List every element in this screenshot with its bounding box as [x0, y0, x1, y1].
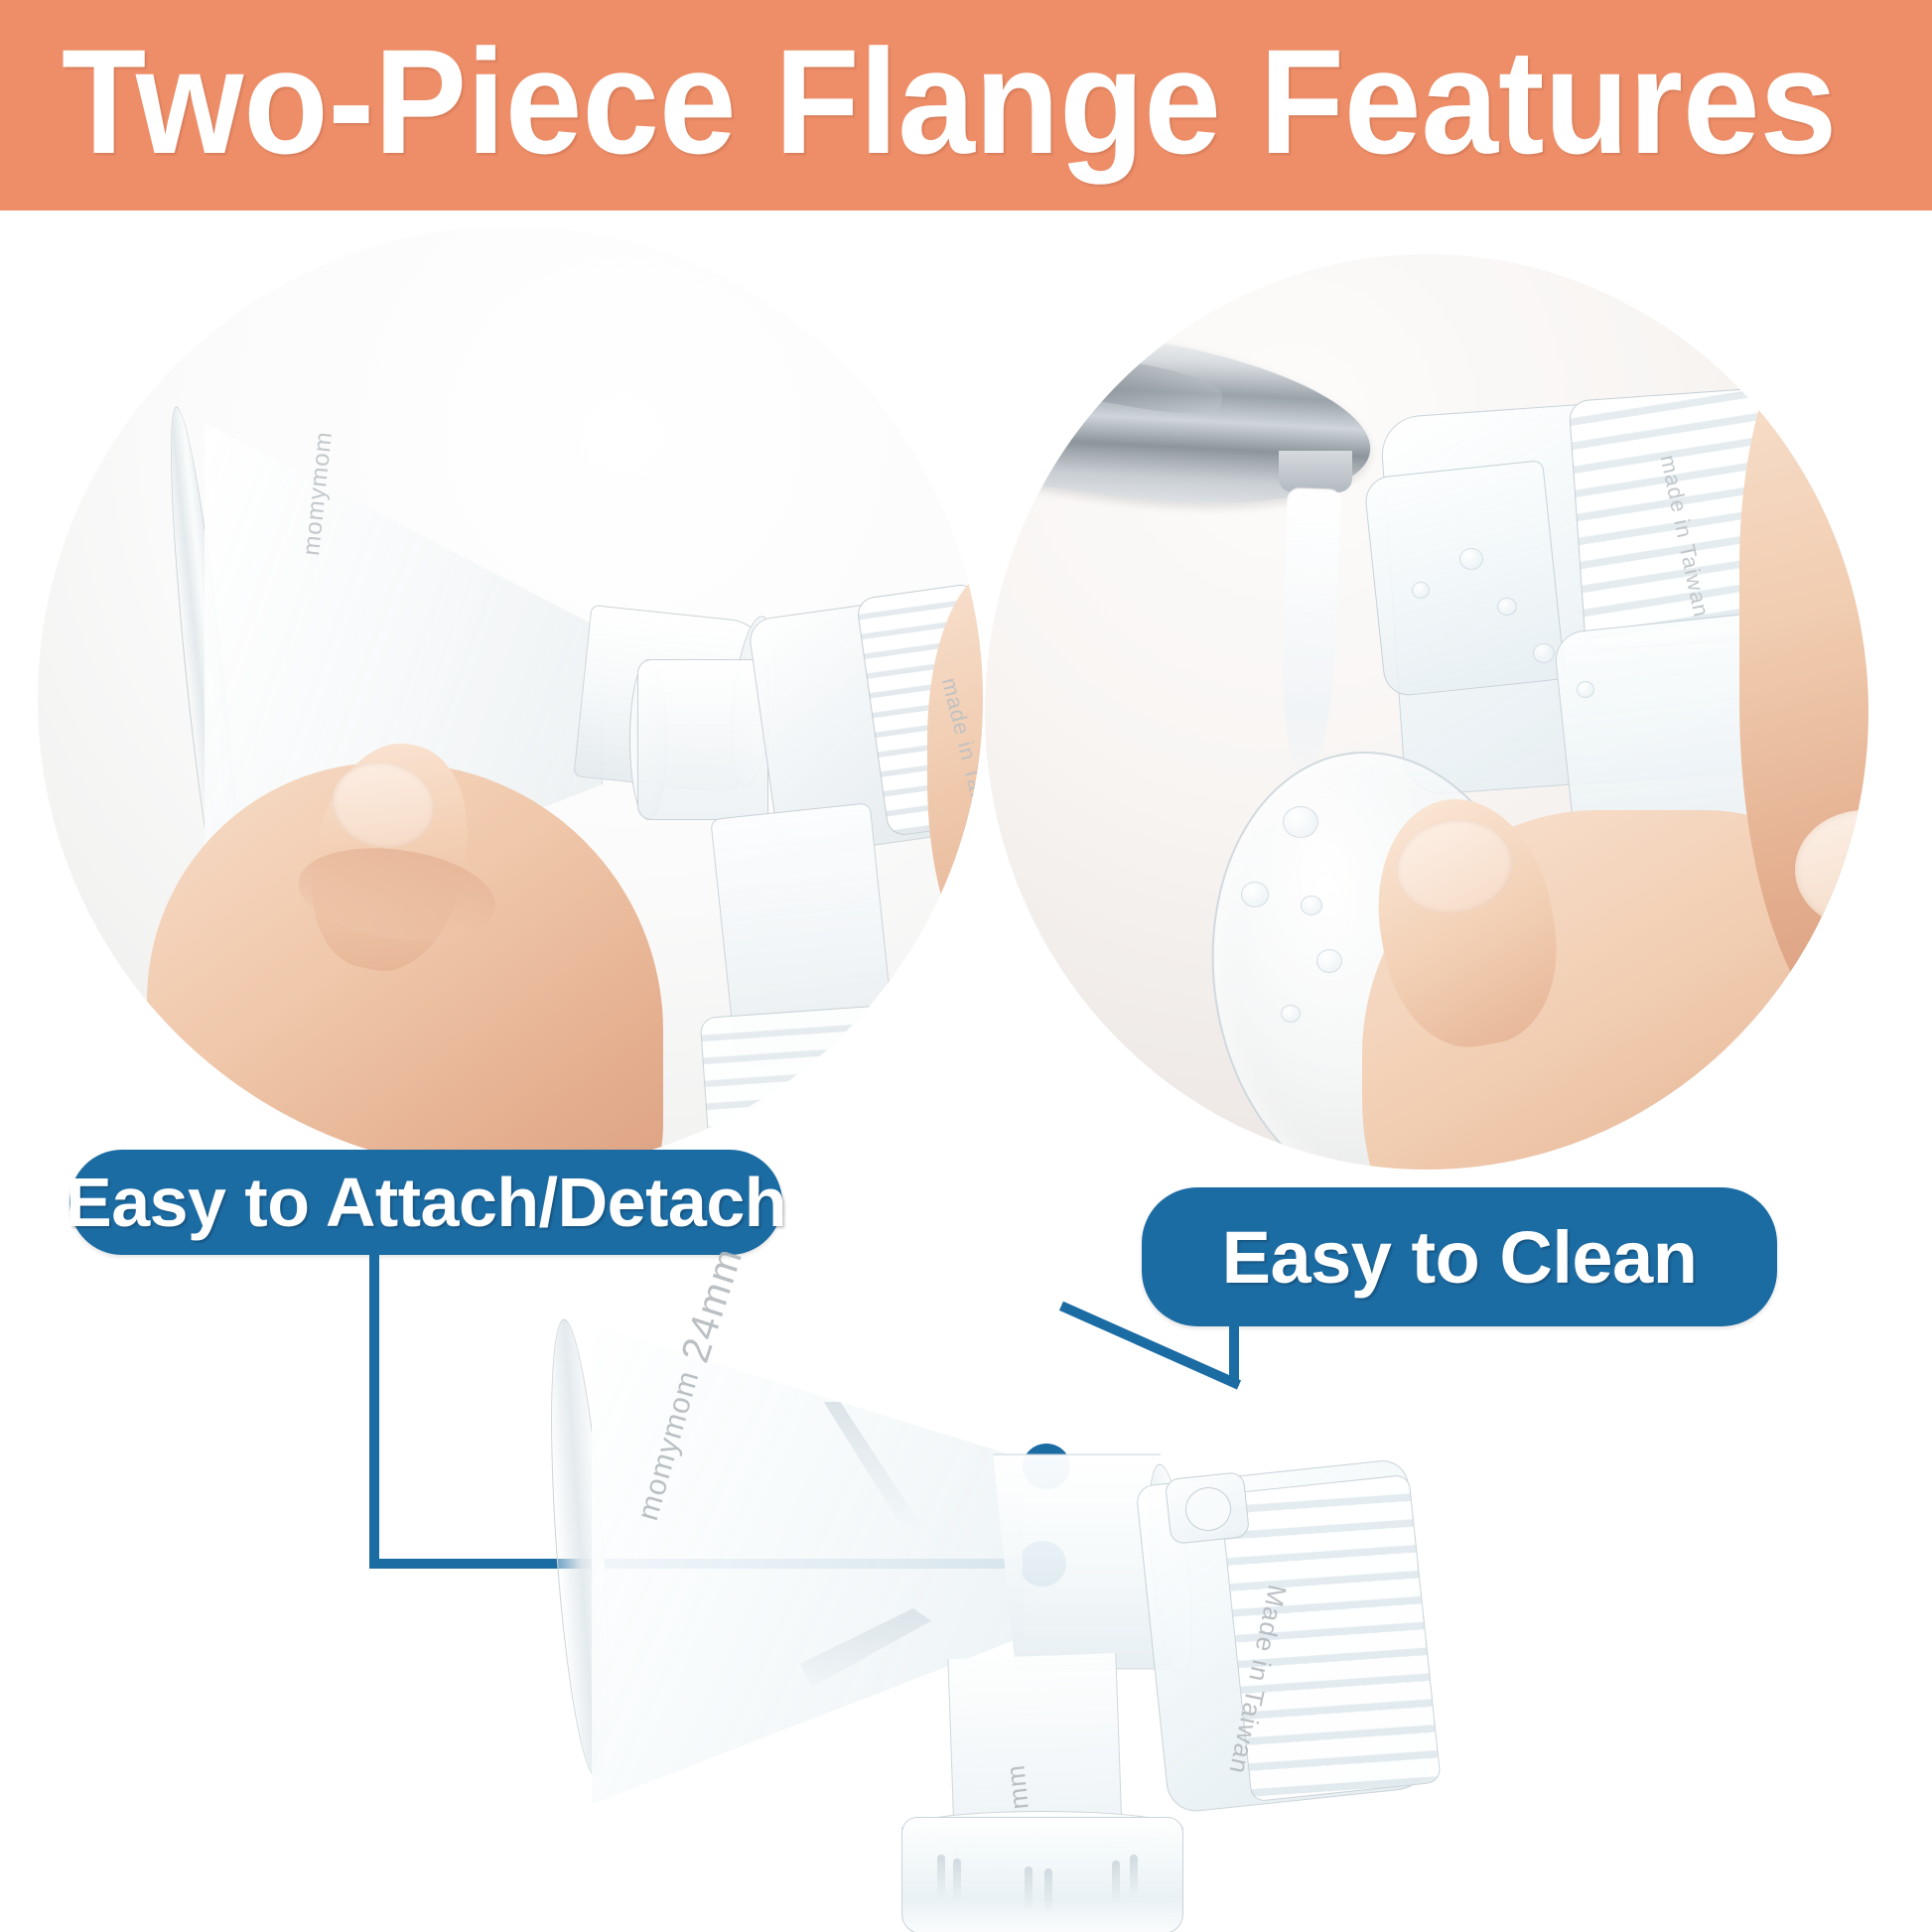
photo-attach-detach: momymom made in Taiwan — [38, 226, 983, 1172]
water-droplet — [1497, 598, 1517, 616]
infographic-page: Two-Piece Flange Features momymom made i… — [0, 0, 1932, 1932]
water-droplet — [1316, 949, 1342, 973]
base-grip-ridge — [1044, 1868, 1052, 1912]
base-grip-ridge — [1130, 1855, 1138, 1898]
base-grip-ridge — [953, 1859, 961, 1902]
base-grip-ridge — [937, 1855, 945, 1898]
water-droplet — [1283, 806, 1318, 838]
photo-clean: made in Taiwan — [985, 254, 1868, 1170]
callout-easy-to-attach-detach[interactable]: Easy to Attach/Detach — [69, 1150, 782, 1255]
connector-tube — [637, 659, 768, 820]
water-droplet — [1577, 681, 1594, 698]
page-title: Two-Piece Flange Features — [62, 8, 1779, 197]
callout-leader-line-attach-vertical — [369, 1249, 379, 1569]
hero-stem-marking: mm — [1000, 1763, 1035, 1811]
water-stream — [1278, 487, 1341, 777]
water-droplet — [1412, 582, 1430, 599]
water-droplet — [1241, 882, 1269, 907]
faucet-outlet — [1279, 451, 1352, 492]
connector-cup — [1363, 460, 1566, 698]
hero-size-marking: 24mm — [673, 1242, 753, 1368]
water-droplet — [1281, 1005, 1301, 1023]
base-grip-ridge — [1112, 1861, 1120, 1904]
water-droplet — [1533, 643, 1555, 663]
hero-product-image: 24mm momymom Made in Taiwan mm — [556, 1259, 1410, 1932]
base-grip-ridge — [1025, 1866, 1033, 1910]
water-droplet — [1459, 548, 1483, 570]
water-droplet — [1301, 896, 1322, 915]
connector-base — [700, 1004, 911, 1172]
header-banner: Two-Piece Flange Features — [0, 0, 1932, 210]
